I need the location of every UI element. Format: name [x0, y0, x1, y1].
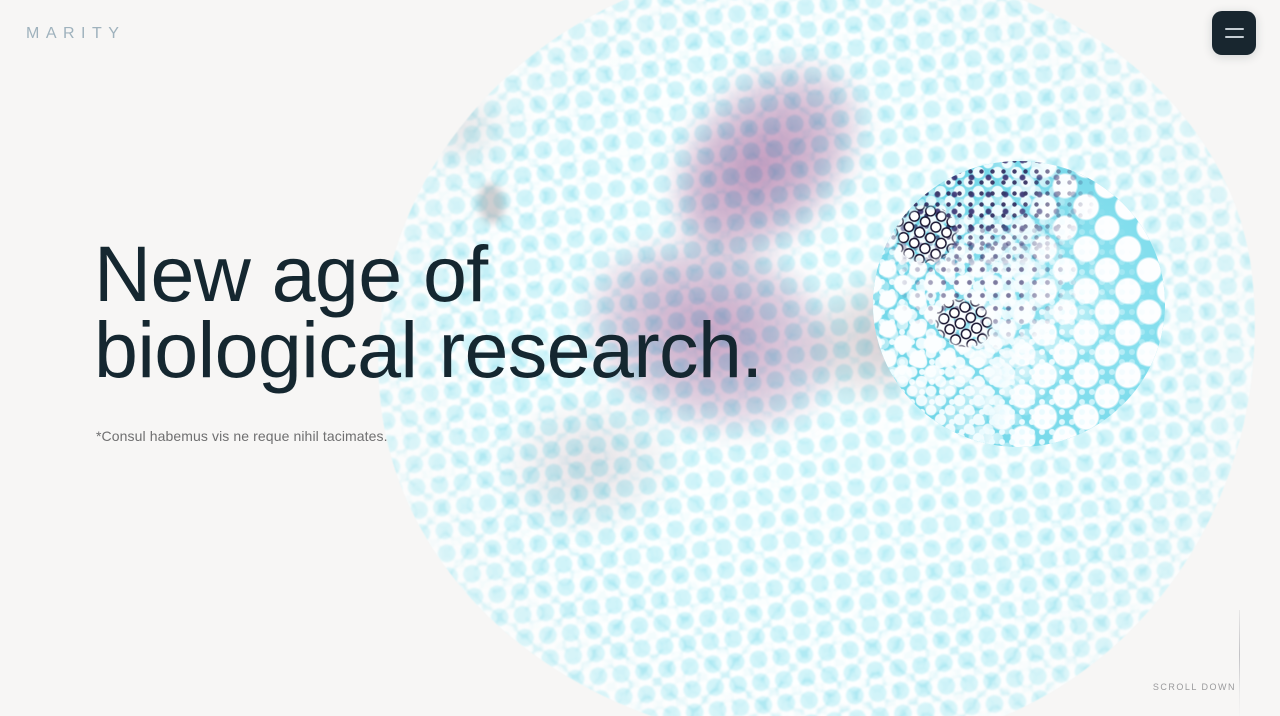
magnified-cell-inset: [873, 161, 1165, 447]
scroll-progress-line: [1239, 610, 1240, 716]
vascular-bundle-6: [409, 87, 506, 166]
hero-page: MARITY New age of biological research. *…: [0, 0, 1280, 716]
inset-edge-fade: [873, 161, 1165, 447]
inset-vessel-cluster-2: [930, 292, 999, 354]
inset-dark-speckle-zone: [873, 161, 1165, 447]
inset-large-cells: [873, 161, 1165, 447]
inset-medium-cells: [873, 161, 1165, 447]
site-header: MARITY: [0, 0, 1280, 66]
page-title: New age of biological research.: [94, 236, 763, 388]
inset-base-gradient: [873, 161, 1165, 447]
menu-button[interactable]: [1212, 11, 1256, 55]
hamburger-menu-icon-bar-bottom: [1225, 36, 1244, 38]
brand-logo[interactable]: MARITY: [26, 24, 125, 42]
hero-copy: New age of biological research. *Consul …: [94, 236, 763, 446]
scroll-indicator[interactable]: SCROLL DOWN: [1153, 606, 1248, 716]
inset-vessel-cluster-1: [888, 197, 965, 271]
rim-speckle: [476, 182, 506, 224]
vascular-bundle-3: [793, 263, 970, 414]
hamburger-menu-icon-bar-top: [1225, 28, 1244, 30]
hero-subtitle: *Consul habemus vis ne reque nihil tacim…: [96, 426, 763, 446]
scroll-down-label: SCROLL DOWN: [1153, 683, 1236, 692]
inset-dark-speckle-zone-2: [873, 161, 1165, 447]
inset-small-cells: [873, 161, 1165, 447]
vascular-bundle-4: [937, 325, 1066, 432]
inset-left-cells: [873, 161, 1165, 447]
